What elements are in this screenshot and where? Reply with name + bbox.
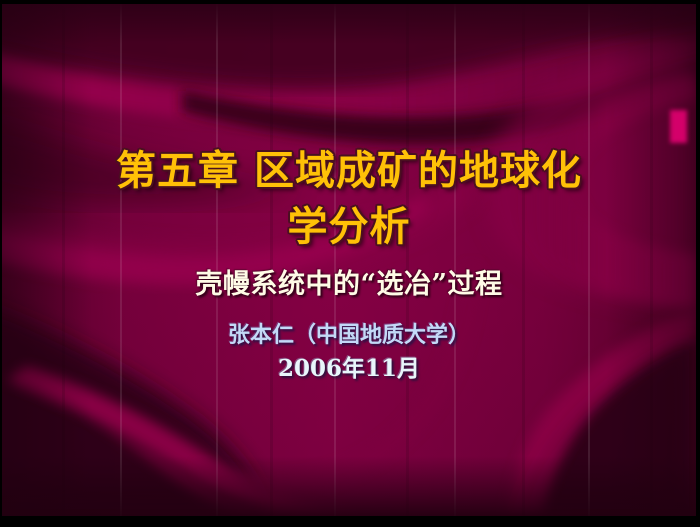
slide-date: 2006年11月: [2, 354, 696, 384]
presentation-slide: 第五章 区域成矿的地球化 学分析 壳幔系统中的“选冶”过程 张本仁（中国地质大学…: [0, 0, 700, 527]
slide-title-line-1: 第五章 区域成矿的地球化: [116, 147, 582, 194]
slide-canvas: 第五章 区域成矿的地球化 学分析 壳幔系统中的“选冶”过程 张本仁（中国地质大学…: [2, 4, 696, 516]
slide-text-layer: 第五章 区域成矿的地球化 学分析 壳幔系统中的“选冶”过程 张本仁（中国地质大学…: [2, 4, 696, 516]
slide-title: 第五章 区域成矿的地球化 学分析: [2, 143, 696, 255]
slide-author: 张本仁（中国地质大学）: [2, 321, 696, 349]
slide-subtitle: 壳幔系统中的“选冶”过程: [2, 268, 696, 302]
slide-title-line-2: 学分析: [2, 199, 696, 255]
